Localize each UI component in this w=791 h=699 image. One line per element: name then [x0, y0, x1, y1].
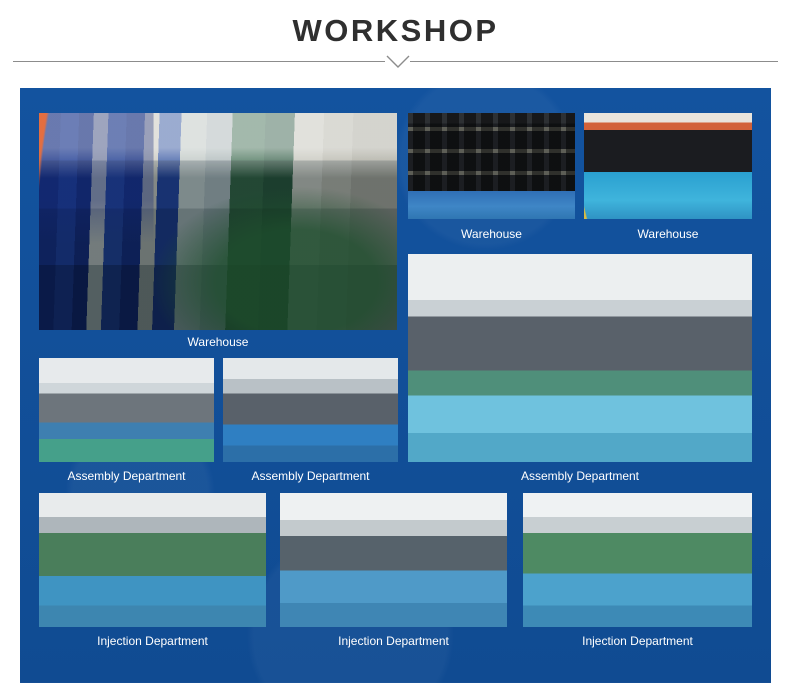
caption-assembly-right: Assembly Department	[408, 468, 752, 484]
photo-warehouse-rack-image	[584, 113, 752, 219]
photo-assembly-left-image	[39, 358, 214, 462]
page-header: WORKSHOP	[0, 0, 791, 88]
photo-injection-middle-image	[280, 493, 507, 627]
photo-assembly-right-image	[408, 254, 752, 462]
caption-warehouse-rack: Warehouse	[584, 226, 752, 242]
photo-injection-left[interactable]	[39, 493, 266, 627]
photo-warehouse-shelf[interactable]	[408, 113, 575, 219]
photo-assembly-right[interactable]	[408, 254, 752, 462]
photo-injection-middle[interactable]	[280, 493, 507, 627]
gallery-panel: Warehouse Warehouse Warehouse Assembly D…	[20, 88, 771, 683]
photo-assembly-middle[interactable]	[223, 358, 398, 462]
caption-assembly-left: Assembly Department	[39, 468, 214, 484]
photo-injection-left-image	[39, 493, 266, 627]
caption-injection-middle: Injection Department	[280, 633, 507, 649]
photo-warehouse-rack[interactable]	[584, 113, 752, 219]
page-title: WORKSHOP	[0, 12, 791, 50]
photo-injection-right-image	[523, 493, 752, 627]
caption-injection-right: Injection Department	[523, 633, 752, 649]
photo-warehouse-main[interactable]	[39, 113, 397, 330]
caption-injection-left: Injection Department	[39, 633, 266, 649]
photo-warehouse-shelf-image	[408, 113, 575, 219]
workshop-page: WORKSHOP Warehouse Warehouse Warehouse A…	[0, 0, 791, 699]
photo-assembly-left[interactable]	[39, 358, 214, 462]
photo-assembly-middle-image	[223, 358, 398, 462]
divider-left	[13, 61, 385, 62]
photo-injection-right[interactable]	[523, 493, 752, 627]
photo-warehouse-main-image	[39, 113, 397, 330]
chevron-down-icon	[385, 53, 411, 71]
divider-right	[410, 61, 778, 62]
caption-assembly-middle: Assembly Department	[223, 468, 398, 484]
caption-warehouse-main: Warehouse	[39, 334, 397, 350]
caption-warehouse-shelf: Warehouse	[408, 226, 575, 242]
